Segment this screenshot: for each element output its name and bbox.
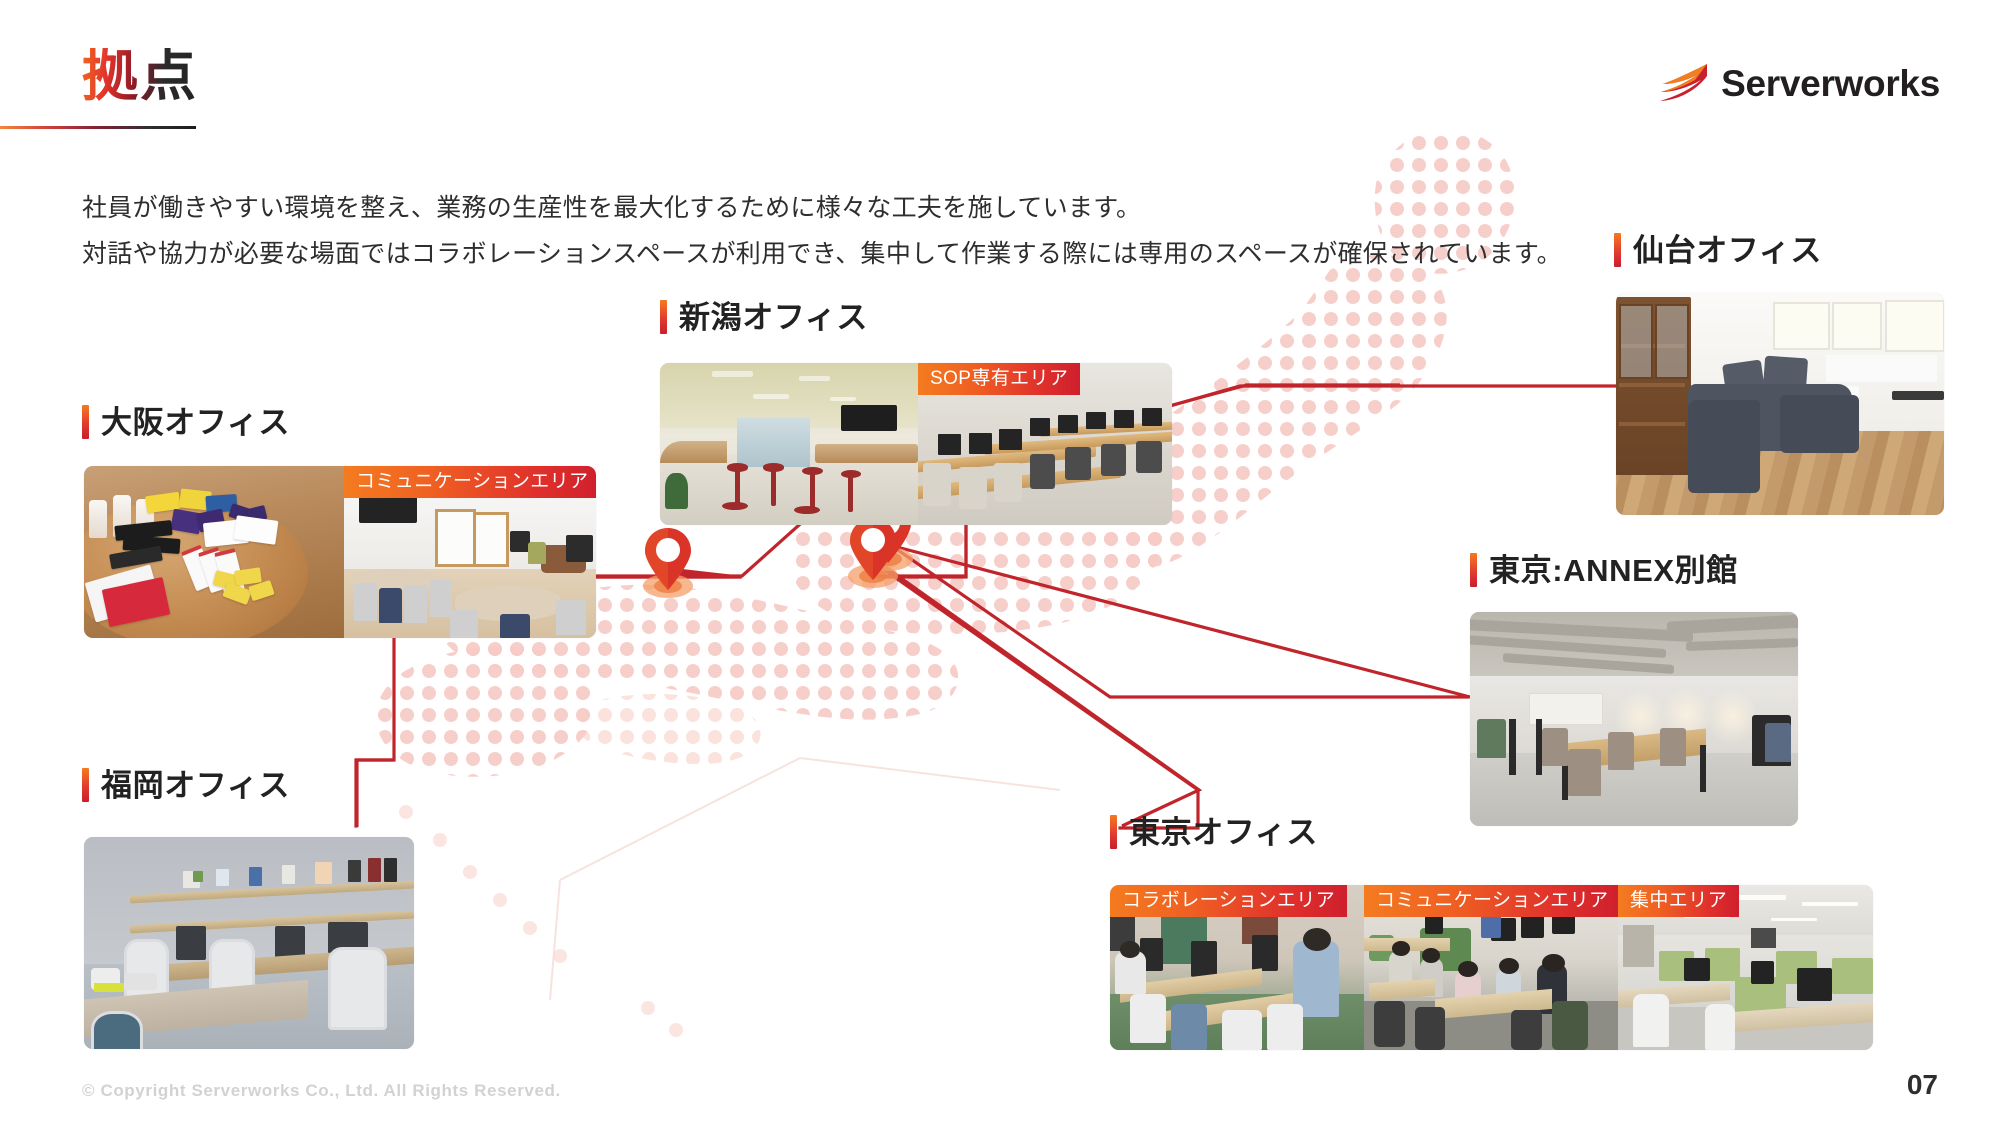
office-label-tokyo: 東京オフィス xyxy=(1110,815,1318,849)
osaka-communication-area-photo[interactable]: コミュニケーションエリア xyxy=(344,466,596,638)
office-label-sendai: 仙台オフィス xyxy=(1614,233,1822,267)
brand-name: Serverworks xyxy=(1721,65,1940,102)
slide-root: 拠点 Serverworks 社員が働きやすい環境を整え、業務の生産性を最大化す… xyxy=(0,0,2000,1125)
tokyo-collaboration-area-photo[interactable]: コラボレーションエリア xyxy=(1110,885,1364,1050)
area-tag: コミュニケーションエリア xyxy=(344,466,596,498)
page-title: 拠点 xyxy=(82,48,198,104)
intro-line-2: 対話や協力が必要な場面ではコラボレーションスペースが利用でき、集中して作業する際… xyxy=(82,242,1562,267)
niigata-lounge-photo[interactable] xyxy=(660,363,918,525)
office-name: 新潟オフィス xyxy=(679,302,868,333)
area-tag: 集中エリア xyxy=(1618,885,1739,917)
office-label-fukuoka: 福岡オフィス xyxy=(82,768,290,802)
office-name: 東京:ANNEX別館 xyxy=(1489,555,1738,586)
intro-line-1: 社員が働きやすい環境を整え、業務の生産性を最大化するために様々な工夫を施していま… xyxy=(82,196,1141,221)
office-photos-fukuoka[interactable] xyxy=(84,837,414,1049)
map-pin-osaka[interactable] xyxy=(642,524,694,594)
label-accent-bar xyxy=(82,405,89,439)
office-name: 仙台オフィス xyxy=(1633,235,1822,266)
label-accent-bar xyxy=(660,300,667,334)
tokyo-focus-area-photo[interactable]: 集中エリア xyxy=(1618,885,1873,1050)
office-photos-osaka[interactable]: コミュニケーションエリア xyxy=(84,466,596,638)
office-photos-tokyo-annex[interactable] xyxy=(1470,612,1798,826)
area-tag: コミュニケーションエリア xyxy=(1364,885,1618,917)
office-name: 大阪オフィス xyxy=(101,407,290,438)
tokyo-communication-area-photo[interactable]: コミュニケーションエリア xyxy=(1364,885,1618,1050)
area-tag: コラボレーションエリア xyxy=(1110,885,1347,917)
label-accent-bar xyxy=(1470,553,1477,587)
title-underline xyxy=(0,126,196,129)
office-name: 東京オフィス xyxy=(1129,817,1318,848)
label-accent-bar xyxy=(1614,233,1621,267)
office-label-tokyo-annex: 東京:ANNEX別館 xyxy=(1470,553,1738,587)
label-accent-bar xyxy=(1110,815,1117,849)
area-tag: SOP専有エリア xyxy=(918,363,1080,395)
office-photos-niigata[interactable]: SOP専有エリア xyxy=(660,363,1172,525)
office-name: 福岡オフィス xyxy=(101,770,290,801)
page-number: 07 xyxy=(1907,1071,1938,1099)
brand-logo: Serverworks xyxy=(1657,62,1940,104)
niigata-sop-area-photo[interactable]: SOP専有エリア xyxy=(918,363,1172,525)
office-label-niigata: 新潟オフィス xyxy=(660,300,868,334)
office-photos-sendai[interactable] xyxy=(1616,293,1944,515)
serverworks-swoosh-icon xyxy=(1657,62,1709,104)
label-accent-bar xyxy=(82,768,89,802)
office-photos-tokyo[interactable]: コラボレーションエリア xyxy=(1110,885,1873,1050)
office-label-osaka: 大阪オフィス xyxy=(82,405,290,439)
osaka-workshop-table-photo[interactable] xyxy=(84,466,344,638)
copyright-text: © Copyright Serverworks Co., Ltd. All Ri… xyxy=(82,1082,561,1099)
